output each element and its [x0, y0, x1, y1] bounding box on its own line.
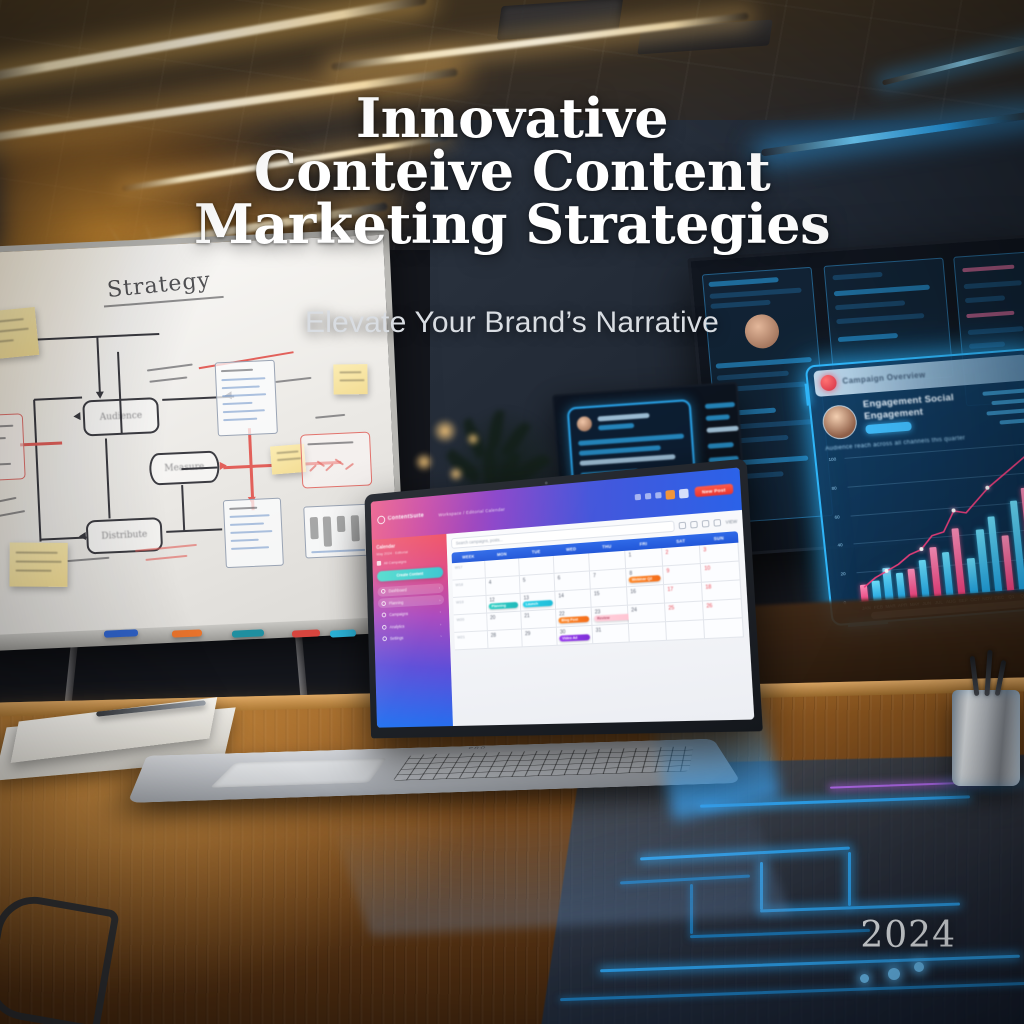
calendar-day-cell[interactable]: 18	[702, 580, 742, 601]
marker-red	[292, 629, 320, 637]
calendar-day-number: 4	[489, 580, 492, 586]
filter-icon[interactable]	[655, 492, 661, 499]
whiteboard-node-label: Distribute	[88, 529, 160, 542]
calendar-day-number: 3	[703, 547, 706, 553]
calendar-day-cell[interactable]: 6	[554, 571, 590, 591]
prev-icon[interactable]	[679, 521, 687, 529]
sidebar-item-label: Dashboard	[388, 586, 435, 594]
chart-marker	[951, 509, 955, 513]
chart-line-markers	[845, 444, 1024, 602]
headline-line-2: Conteive Content	[60, 145, 964, 198]
calendar-day-number: 23	[595, 609, 601, 615]
whiteboard-card	[223, 498, 284, 569]
redo-icon[interactable]	[645, 493, 651, 500]
chevron-right-icon: ›	[439, 585, 440, 590]
calendar-day-cell[interactable]	[666, 620, 705, 641]
sidebar-item-analytics[interactable]: Analytics›	[378, 619, 445, 632]
calendar-week-label: W21	[457, 634, 465, 639]
pen-cup	[952, 690, 1020, 786]
whiteboard-red-box	[0, 413, 26, 481]
laptop-trackpad[interactable]	[210, 758, 387, 787]
year-badge: 2024	[860, 915, 956, 956]
calendar-week-label-cell: W18	[453, 578, 487, 598]
calendar-event-chip[interactable]: Planning	[489, 602, 519, 610]
holographic-dashboard: Campaign Overview Engagement Social Enga…	[805, 348, 1024, 627]
chart-marker	[986, 486, 990, 490]
marker-orange	[172, 629, 202, 637]
calendar-day-cell[interactable]: 9	[663, 564, 702, 585]
calendar-day-cell[interactable]: 22Blog Post	[556, 607, 592, 627]
marker-cyan	[330, 629, 356, 637]
calendar-event-chip[interactable]: Launch	[523, 599, 553, 607]
sidebar-item-label: Analytics	[390, 622, 437, 629]
calendar-day-number: 22	[559, 611, 565, 617]
megaphone-icon	[382, 613, 387, 618]
calendar-day-cell[interactable]	[589, 550, 626, 571]
calendar-day-number: 17	[667, 586, 673, 593]
calendar-week-label: W19	[456, 599, 464, 604]
calendar-day-cell[interactable]: 7	[590, 569, 627, 590]
sidebar-item-settings[interactable]: Settings›	[379, 631, 446, 644]
marker-teal	[232, 629, 264, 637]
whiteboard-chart-box	[300, 432, 372, 489]
calendar-event-chip[interactable]: Blog Post	[558, 616, 589, 624]
whiteboard-red-arrow	[220, 462, 227, 470]
calendar-day-number: 9	[666, 568, 669, 574]
undo-icon[interactable]	[634, 494, 640, 501]
calendar-day-cell[interactable]: 15	[591, 587, 628, 607]
avatar	[576, 416, 592, 432]
sidebar-item-label: Settings	[390, 634, 437, 641]
subtitle: Elevate Your Brand’s Narrative	[0, 306, 1024, 340]
holo-panel-title: Campaign Overview	[842, 370, 926, 385]
calendar-day-number: 8	[629, 570, 632, 576]
calendar-day-number: 28	[491, 632, 496, 638]
calendar-day-cell[interactable]: 31	[592, 624, 629, 644]
app-sidebar: Calendar May 2024 · Editorial All Campai…	[372, 534, 453, 728]
laptop-screen: ContentSuite Workspace / Editorial Calen…	[371, 467, 755, 727]
whiteboard-arrow	[73, 412, 80, 420]
chevron-right-icon: ›	[440, 609, 441, 614]
calendar-day-number: 7	[593, 573, 596, 579]
chart-marker	[885, 569, 889, 573]
calendar-day-cell[interactable]: 8Webinar Q2	[626, 566, 664, 587]
whiteboard-arrow	[79, 532, 86, 540]
circuit-node	[888, 968, 900, 980]
calendar-day-cell[interactable]: 29	[522, 627, 558, 647]
calendar-day-cell[interactable]: 25	[665, 601, 704, 622]
chevron-right-icon: ›	[440, 622, 441, 627]
grid-view-icon[interactable]	[702, 519, 710, 527]
calendar-day-cell[interactable]: 28	[488, 629, 523, 648]
calendar-day-cell[interactable]: 14	[555, 589, 591, 609]
chevron-right-icon: ›	[439, 597, 440, 602]
breadcrumb: Workspace / Editorial Calendar	[438, 507, 505, 518]
sidebar-nav: Dashboard›Planning›Campaigns›Analytics›S…	[377, 583, 445, 644]
app-main: Search campaigns, posts... VIEW WEEKMONT…	[446, 510, 754, 726]
calendar-week-label-cell: W20	[454, 613, 488, 632]
calendar-day-number: 21	[524, 613, 530, 619]
sidebar-quick-action[interactable]: All Campaigns	[377, 556, 443, 566]
calendar-day-cell[interactable]: 23Review	[592, 605, 629, 625]
laptop-lid: ContentSuite Workspace / Editorial Calen…	[364, 458, 762, 738]
calendar-day-number: 24	[631, 607, 637, 613]
calendar-day-cell[interactable]: 21	[521, 609, 557, 629]
calendar-day-cell[interactable]: 20	[487, 611, 522, 631]
notifications-icon[interactable]	[665, 490, 675, 500]
calendar-day-number: 18	[705, 584, 711, 591]
page-title: Innovative Conteive Content Marketing St…	[0, 92, 1024, 251]
headline-line-3: Marketing Strategies	[60, 198, 964, 251]
laptop-brand: PRO	[468, 747, 488, 751]
calendar-day-cell[interactable]: 24	[628, 603, 666, 623]
calendar-week-label: W18	[455, 581, 463, 586]
sidebar-item-label: Planning	[389, 598, 436, 606]
calendar-day-cell[interactable]: 30Video Ad	[557, 626, 593, 646]
bokeh-light	[432, 418, 458, 444]
circuit-node	[914, 962, 924, 972]
calendar-day-number: 25	[668, 605, 674, 612]
chart-y-tick-label: 80	[831, 485, 837, 490]
app-logo-icon	[377, 515, 385, 524]
webcam-icon	[545, 481, 548, 484]
sidebar-item-label: Campaigns	[389, 610, 436, 617]
app-body: Calendar May 2024 · Editorial All Campai…	[372, 510, 755, 728]
engagement-chart: 020406080100 JANFEBMARAPRMAYJUNJULAUGSEP…	[829, 444, 1024, 604]
calendar-day-number: 30	[560, 629, 566, 635]
circuit-trace	[848, 852, 851, 906]
calendar-week-label-cell: W17	[452, 560, 486, 580]
chevron-right-icon: ›	[440, 634, 441, 639]
search-placeholder: Search campaigns, posts...	[456, 537, 503, 545]
calendar-day-number: 20	[490, 615, 495, 621]
new-post-button[interactable]: New Post	[694, 484, 733, 498]
laptop-keyboard[interactable]	[392, 746, 693, 781]
share-icon[interactable]	[714, 518, 722, 526]
whiteboard-card	[215, 360, 278, 437]
calendar-day-number: 15	[594, 591, 600, 597]
whiteboard-arrow	[96, 392, 104, 399]
calendar-day-number: 1	[628, 552, 631, 558]
calendar-day-number: 16	[630, 588, 636, 594]
chart-y-tick-label: 100	[828, 457, 836, 463]
bokeh-light	[448, 466, 464, 482]
next-icon[interactable]	[690, 520, 698, 528]
record-indicator-icon	[820, 374, 838, 391]
app-logo-label: ContentSuite	[388, 513, 424, 522]
calendar-day-cell[interactable]: 17	[664, 582, 703, 603]
calendar-day-number: 10	[704, 565, 710, 572]
sidebar-quick-action-label: All Campaigns	[384, 559, 407, 565]
folder-icon	[377, 560, 381, 565]
calendar-event-chip[interactable]: Video Ad	[559, 634, 590, 642]
calendar-day-cell[interactable]: 16	[627, 585, 665, 606]
office-chair	[0, 891, 120, 1024]
chart-y-tick-label: 60	[834, 514, 840, 519]
calendar-day-cell[interactable]	[519, 556, 554, 576]
calendar-day-cell[interactable]: 10	[701, 561, 741, 582]
calendar-day-cell[interactable]	[704, 618, 744, 639]
poster-canvas: Strategy Audience Distribute Measure	[0, 0, 1024, 1024]
calendar-day-cell[interactable]: 4	[486, 576, 521, 596]
chart-icon	[382, 624, 387, 629]
calendar-day-cell[interactable]: 5	[520, 573, 555, 593]
calendar-day-cell[interactable]: 12Planning	[486, 593, 521, 613]
calendar-day-cell[interactable]	[485, 558, 520, 578]
calendar-week-label-cell: W19	[453, 596, 487, 615]
calendar-week-label: W17	[455, 564, 463, 569]
bokeh-light	[466, 432, 480, 446]
calendar-week-label: W20	[457, 616, 465, 621]
calendar-day-number: 5	[523, 577, 526, 583]
calendar-icon	[381, 601, 386, 606]
calendar-day-number: 31	[596, 627, 602, 633]
sidebar-item-planning[interactable]: Planning›	[378, 595, 444, 609]
bokeh-light	[414, 452, 434, 472]
sidebar-item-campaigns[interactable]: Campaigns›	[378, 607, 444, 620]
view-label: VIEW	[725, 518, 737, 524]
sticky-note	[9, 542, 67, 586]
circuit-node	[860, 974, 869, 983]
profile-icon[interactable]	[679, 488, 689, 498]
calendar-day-number: 29	[525, 631, 531, 637]
sticky-note	[333, 364, 367, 394]
chart-marker	[919, 547, 923, 551]
chart-y-tick-label: 40	[837, 543, 843, 548]
grid-icon	[381, 589, 386, 594]
calendar-day-number: 6	[558, 575, 561, 581]
calendar-event-chip[interactable]: Webinar Q2	[629, 575, 661, 584]
calendar-day-number: 14	[558, 593, 564, 599]
calendar-day-cell[interactable]: 13Launch	[521, 591, 557, 611]
gear-icon	[382, 636, 387, 641]
calendar-day-cell[interactable]	[554, 553, 590, 573]
calendar-day-number: 26	[706, 603, 712, 610]
calendar-day-number: 2	[665, 549, 668, 555]
calendar-day-cell[interactable]	[629, 622, 667, 642]
chart-y-tick-label: 20	[840, 571, 846, 576]
calendar-day-cell[interactable]: 26	[703, 599, 743, 620]
calendar-week-label-cell: W21	[454, 631, 488, 650]
whiteboard: Strategy Audience Distribute Measure	[0, 228, 407, 647]
create-content-button[interactable]: Create Content	[377, 566, 443, 581]
laptop-reflection	[330, 796, 790, 936]
